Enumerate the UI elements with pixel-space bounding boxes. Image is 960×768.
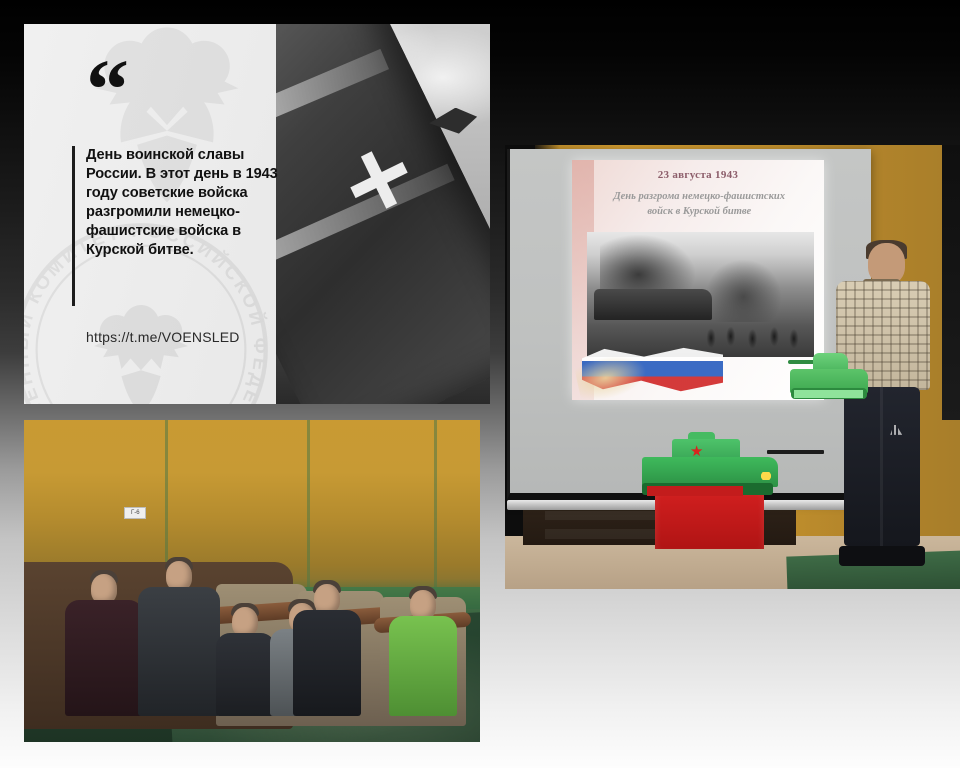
quote-rule [72, 146, 75, 306]
slide-battle-photo [587, 232, 814, 357]
presenter-person [819, 243, 942, 563]
seated-person [138, 587, 220, 716]
slide-date: 23 августа 1943 [572, 169, 825, 181]
slide-title-line2: войск в Курской битве [647, 206, 751, 217]
quote-text: День воинской славы России. В этот день … [86, 146, 286, 260]
presenter-trousers [844, 387, 920, 547]
projected-slide: 23 августа 1943 День разгрома немецко-фа… [572, 160, 825, 401]
slide-title: День разгрома немецко-фашистских войск в… [582, 190, 817, 220]
presenter-shoes [839, 546, 925, 565]
slide-title-line1: День разгрома немецко-фашистских [613, 191, 785, 202]
presenter-head [868, 243, 905, 285]
quote-mark-icon: “ [86, 46, 125, 132]
quote-source-url[interactable]: https://t.me/VOENSLED [86, 329, 240, 345]
hall-wall-right-dark [942, 145, 960, 420]
wrecked-german-aircraft-photo [276, 24, 490, 404]
collage-canvas: СЛЕДСТВЕННЫЙ КОМИТЕТ РОССИЙСКОЙ ФЕДЕРАЦИ… [0, 0, 960, 768]
seated-person [65, 600, 143, 716]
seated-person [216, 633, 275, 717]
seated-person [293, 610, 361, 716]
quote-card: СЛЕДСТВЕННЫЙ КОМИТЕТ РОССИЙСКОЙ ФЕДЕРАЦИ… [24, 24, 490, 404]
model-tank-on-pedestal [642, 434, 779, 496]
audience-photo: Г-6 [24, 420, 480, 742]
held-model-tank [790, 351, 869, 399]
presentation-photo: 23 августа 1943 День разгрома немецко-фа… [505, 145, 960, 589]
red-pedestal [655, 487, 764, 549]
seated-person [389, 616, 457, 716]
wall-tag: Г-6 [124, 507, 146, 519]
